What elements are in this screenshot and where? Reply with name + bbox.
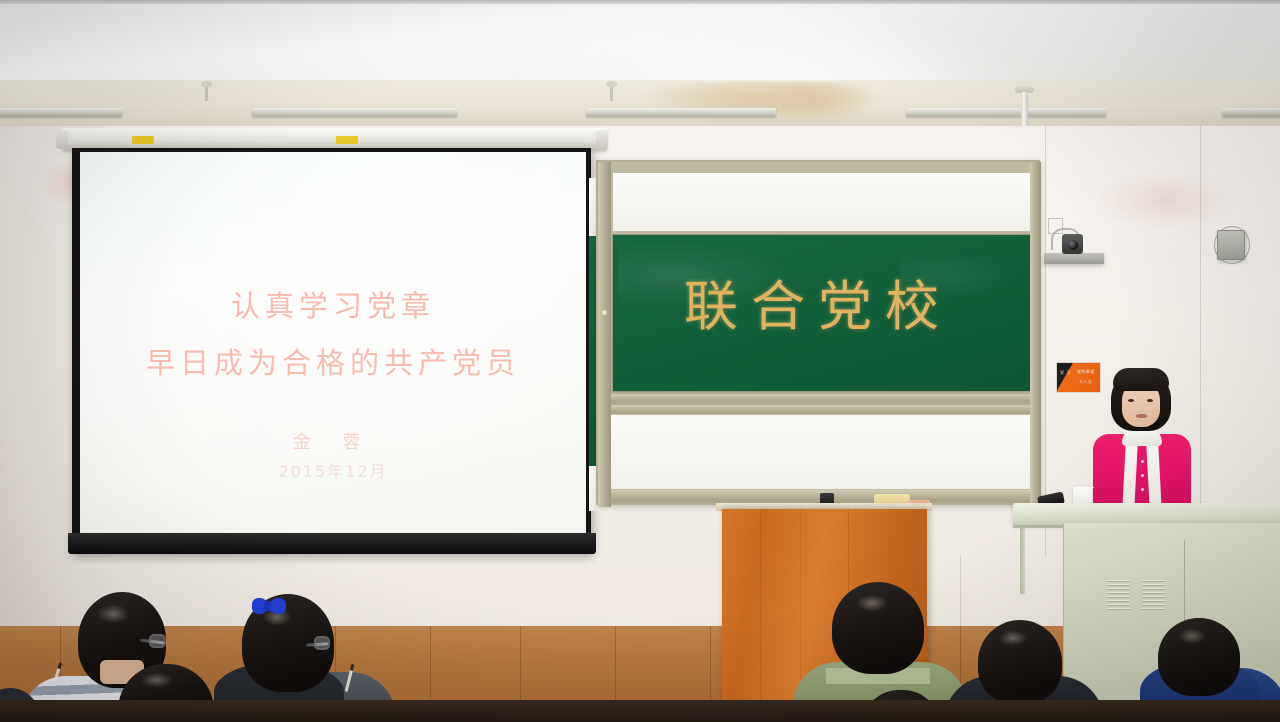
ceiling-lip [0, 0, 1280, 4]
ceiling-beam [0, 80, 1280, 128]
lecture-hall-photo: 认真学习党章 早日成为合格的共产党员 金 蓉 2015年12月 联合党校 学 习… [0, 0, 1280, 722]
projection-screen-weight-bar[interactable] [68, 533, 596, 554]
student-head-7 [1158, 618, 1240, 696]
board-vertical-track-right [1030, 162, 1041, 507]
slide-presenter: 金 蓉 [80, 428, 586, 454]
ceiling-light-2 [252, 108, 457, 117]
ceiling-light-1 [0, 108, 122, 117]
ceiling-hook-2 [610, 85, 613, 101]
ceiling-hook-1 [205, 85, 208, 101]
camera-bracket-shelf [1044, 253, 1104, 264]
screen-endcap-right [596, 130, 608, 149]
student-head-4 [832, 582, 924, 674]
ceiling-light-3 [586, 108, 776, 117]
glasses-lens-2 [314, 636, 330, 650]
screen-endcap-left [56, 130, 68, 149]
screen-warning-label-1 [132, 136, 154, 144]
wall-speaker-icon [1217, 230, 1245, 260]
podium-vent-right [1142, 580, 1165, 620]
speaker-mouth [1136, 414, 1147, 418]
slide-title-line-2: 早日成为合格的共产党员 [80, 340, 586, 382]
foreground-shadow [0, 700, 1280, 722]
podium-vent-left [1107, 580, 1130, 620]
board-rail-upper [608, 394, 1036, 402]
podium-desktop [1013, 503, 1280, 525]
podium-leg [1020, 528, 1025, 594]
blackboard-title: 联合党校 [606, 262, 1030, 341]
whiteboard-panel-bottom [610, 414, 1034, 490]
camera-lens-icon [1068, 240, 1078, 250]
ceiling-light-glow [520, 0, 1040, 86]
blue-hair-bow [252, 598, 286, 614]
slide-title-line-1: 认真学习党章 [80, 283, 586, 325]
ceiling-light-5 [1222, 108, 1280, 117]
ceiling-light-4 [906, 108, 1106, 117]
wall-seam-3 [960, 556, 961, 628]
screen-warning-label-2 [336, 136, 358, 144]
slide-date: 2015年12月 [80, 458, 586, 482]
speaker-bangs [1113, 368, 1169, 391]
wall-poster: 学 习 党的章程 十八大 [1056, 362, 1101, 393]
poster-line-3: 十八大 [1079, 379, 1092, 385]
wall-seam-2 [1200, 126, 1201, 566]
wall-seam-1 [1045, 126, 1046, 556]
whiteboard-panel-top [612, 172, 1032, 232]
poster-line-2: 党的章程 [1077, 369, 1095, 375]
glasses-lens-1 [149, 634, 166, 648]
board-rail-lower [608, 405, 1036, 413]
poster-line-1: 学 习 [1060, 370, 1070, 376]
student-head-6 [978, 620, 1062, 704]
